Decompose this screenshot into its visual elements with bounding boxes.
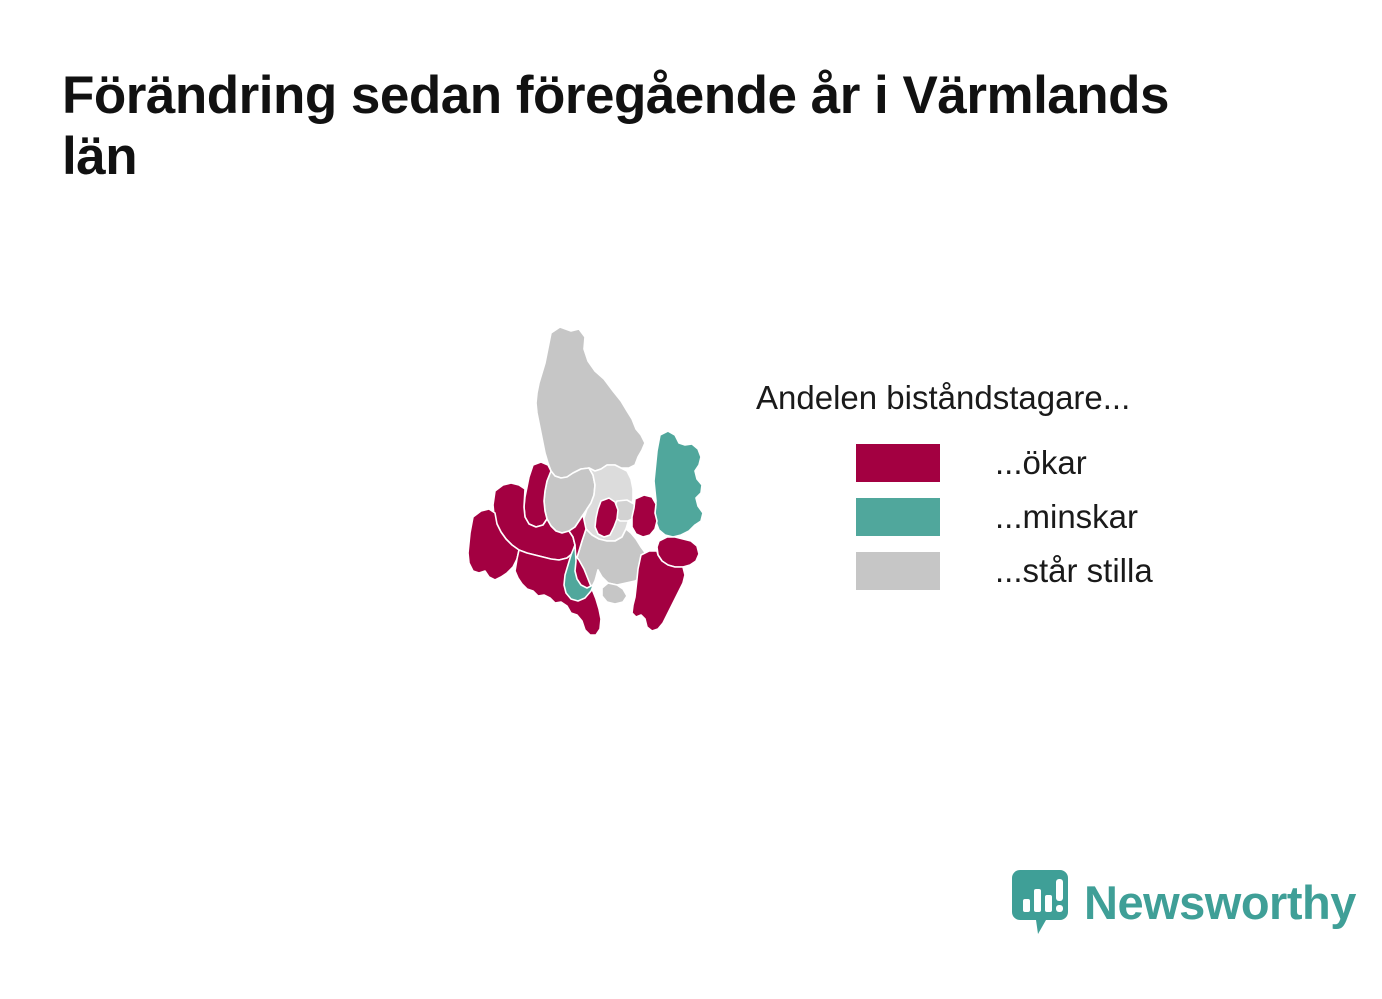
speech-bubble-bar-chart-icon [1012, 870, 1068, 934]
legend-label-increase: ...ökar [995, 446, 1087, 479]
map-region-torsby[interactable] [536, 327, 645, 478]
legend-label-unchanged: ...står stilla [995, 554, 1153, 587]
map-region-filipstad[interactable] [654, 431, 703, 537]
title-block: Förändring sedan föregående år i Värmlan… [62, 66, 1212, 188]
legend-title: Andelen biståndstagare... [756, 378, 1296, 418]
page-title: Förändring sedan föregående år i Värmlan… [62, 66, 1212, 188]
legend-swatch-increase [856, 444, 940, 482]
map-svg [455, 305, 775, 705]
legend-swatch-decrease [856, 498, 940, 536]
legend-items: ...ökar ...minskar ...står stilla [756, 436, 1296, 598]
legend-item-unchanged[interactable]: ...står stilla [756, 544, 1296, 598]
map-region-hammaro[interactable] [602, 583, 627, 604]
map-region-storfors[interactable] [632, 495, 657, 537]
legend: Andelen biståndstagare... ...ökar ...min… [756, 378, 1296, 598]
newsworthy-logo[interactable]: Newsworthy [1012, 870, 1356, 934]
legend-swatch-unchanged [856, 552, 940, 590]
legend-item-increase[interactable]: ...ökar [756, 436, 1296, 490]
legend-label-decrease: ...minskar [995, 500, 1138, 533]
choropleth-map [455, 305, 775, 705]
brand-name: Newsworthy [1084, 879, 1356, 926]
legend-item-decrease[interactable]: ...minskar [756, 490, 1296, 544]
